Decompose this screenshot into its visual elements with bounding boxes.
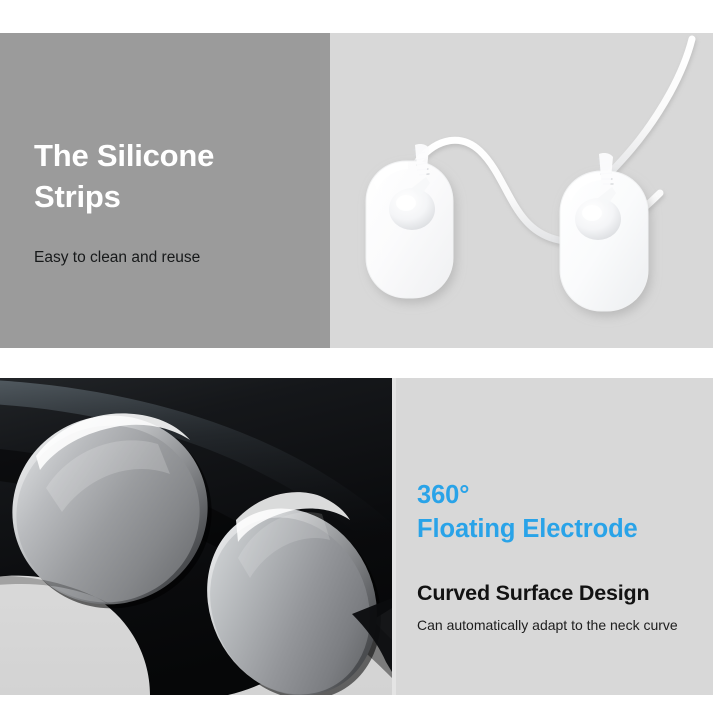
feature-headline: 360° Floating Electrode [417, 479, 707, 547]
electrode-pads-photo [330, 33, 713, 348]
neck-massager-illustration [0, 378, 392, 695]
feature-subtitle: Curved Surface Design [417, 581, 713, 607]
electrode-pads-illustration [330, 33, 713, 348]
product-infographic-page: The Silicone Strips Easy to clean and re… [0, 0, 713, 713]
feature-caption: Can automatically adapt to the neck curv… [417, 616, 713, 634]
floating-electrode-feature-panel: 360° Floating Electrode Curved Surface D… [392, 378, 713, 695]
silicone-strips-panel: The Silicone Strips Easy to clean and re… [0, 33, 330, 348]
neck-massager-photo [0, 378, 392, 695]
silicone-strips-title: The Silicone Strips [34, 136, 294, 218]
top-section: The Silicone Strips Easy to clean and re… [0, 33, 713, 348]
silicone-strips-subtitle: Easy to clean and reuse [34, 248, 304, 268]
bottom-section: 360° Floating Electrode Curved Surface D… [0, 378, 713, 695]
panel-seam [392, 378, 396, 695]
section-divider [0, 348, 713, 378]
